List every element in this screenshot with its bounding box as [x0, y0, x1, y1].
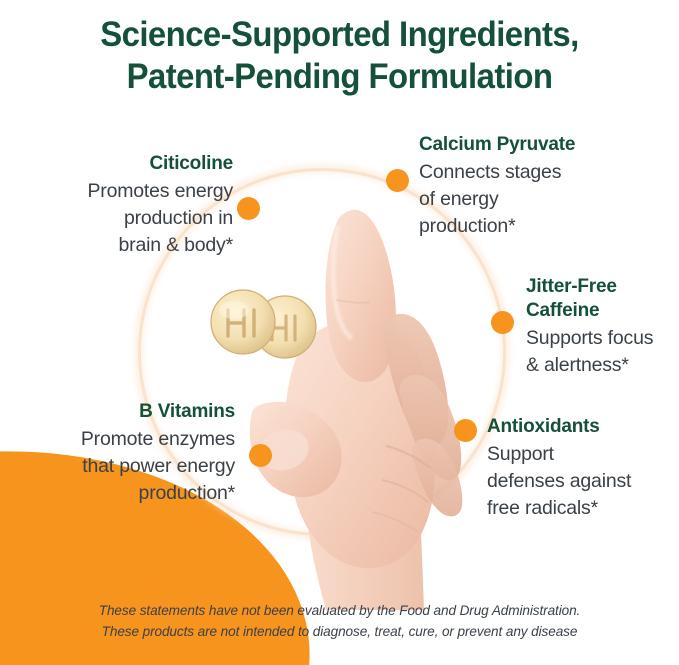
callout-antioxidants-line-3: free radicals*: [487, 495, 677, 522]
page-title-line-1: Science-Supported Ingredients,: [20, 14, 658, 56]
callout-b-vitamins: B Vitamins Promote enzymes that power en…: [20, 400, 235, 507]
disclaimer-line-1: These statements have not been evaluated…: [0, 600, 679, 621]
callout-jitter-free-caffeine-title: Jitter-Free Caffeine: [526, 275, 676, 323]
page-title: Science-Supported Ingredients, Patent-Pe…: [20, 14, 658, 98]
callout-b-vitamins-title: B Vitamins: [20, 400, 235, 424]
callout-jitter-free-caffeine-title-line-2: Caffeine: [526, 300, 599, 321]
callout-b-vitamins-line-3: production*: [20, 480, 235, 507]
callout-calcium-pyruvate-body: Connects stages of energy production*: [419, 159, 669, 240]
dot-antioxidants: [454, 419, 477, 442]
callout-antioxidants-title: Antioxidants: [487, 415, 677, 439]
callout-jitter-free-caffeine: Jitter-Free Caffeine Supports focus & al…: [526, 275, 676, 379]
callout-citicoline-line-1: Promotes energy: [28, 178, 233, 205]
callout-calcium-pyruvate-line-3: production*: [419, 213, 669, 240]
dot-citicoline: [237, 197, 260, 220]
disclaimer: These statements have not been evaluated…: [0, 600, 679, 642]
callout-calcium-pyruvate-title: Calcium Pyruvate: [419, 133, 669, 157]
infographic-root: Science-Supported Ingredients, Patent-Pe…: [0, 0, 679, 665]
callout-b-vitamins-line-1: Promote enzymes: [20, 426, 235, 453]
disclaimer-line-2: These products are not intended to diagn…: [0, 621, 679, 642]
callout-calcium-pyruvate: Calcium Pyruvate Connects stages of ener…: [419, 133, 669, 240]
callout-antioxidants-line-1: Support: [487, 441, 677, 468]
callout-citicoline-body: Promotes energy production in brain & bo…: [28, 178, 233, 259]
page-title-line-2: Patent-Pending Formulation: [20, 56, 658, 98]
callout-jitter-free-caffeine-line-2: & alertness*: [526, 352, 676, 379]
callout-calcium-pyruvate-line-2: of energy: [419, 186, 669, 213]
dot-b-vitamins: [249, 444, 272, 467]
callout-citicoline-line-3: brain & body*: [28, 232, 233, 259]
callout-antioxidants-body: Support defenses against free radicals*: [487, 441, 677, 522]
callout-b-vitamins-body: Promote enzymes that power energy produc…: [20, 426, 235, 507]
callout-jitter-free-caffeine-title-line-1: Jitter-Free: [526, 276, 617, 297]
callout-citicoline-title: Citicoline: [28, 152, 233, 176]
callout-jitter-free-caffeine-body: Supports focus & alertness*: [526, 325, 676, 379]
callout-citicoline-line-2: production in: [28, 205, 233, 232]
callout-antioxidants-line-2: defenses against: [487, 468, 677, 495]
dot-calcium-pyruvate: [386, 169, 409, 192]
callout-b-vitamins-line-2: that power energy: [20, 453, 235, 480]
callout-citicoline: Citicoline Promotes energy production in…: [28, 152, 233, 259]
dot-jitter-free-caffeine: [491, 311, 514, 334]
callout-antioxidants: Antioxidants Support defenses against fr…: [487, 415, 677, 522]
callout-jitter-free-caffeine-line-1: Supports focus: [526, 325, 676, 352]
callout-calcium-pyruvate-line-1: Connects stages: [419, 159, 669, 186]
tablet-front: [211, 290, 275, 354]
